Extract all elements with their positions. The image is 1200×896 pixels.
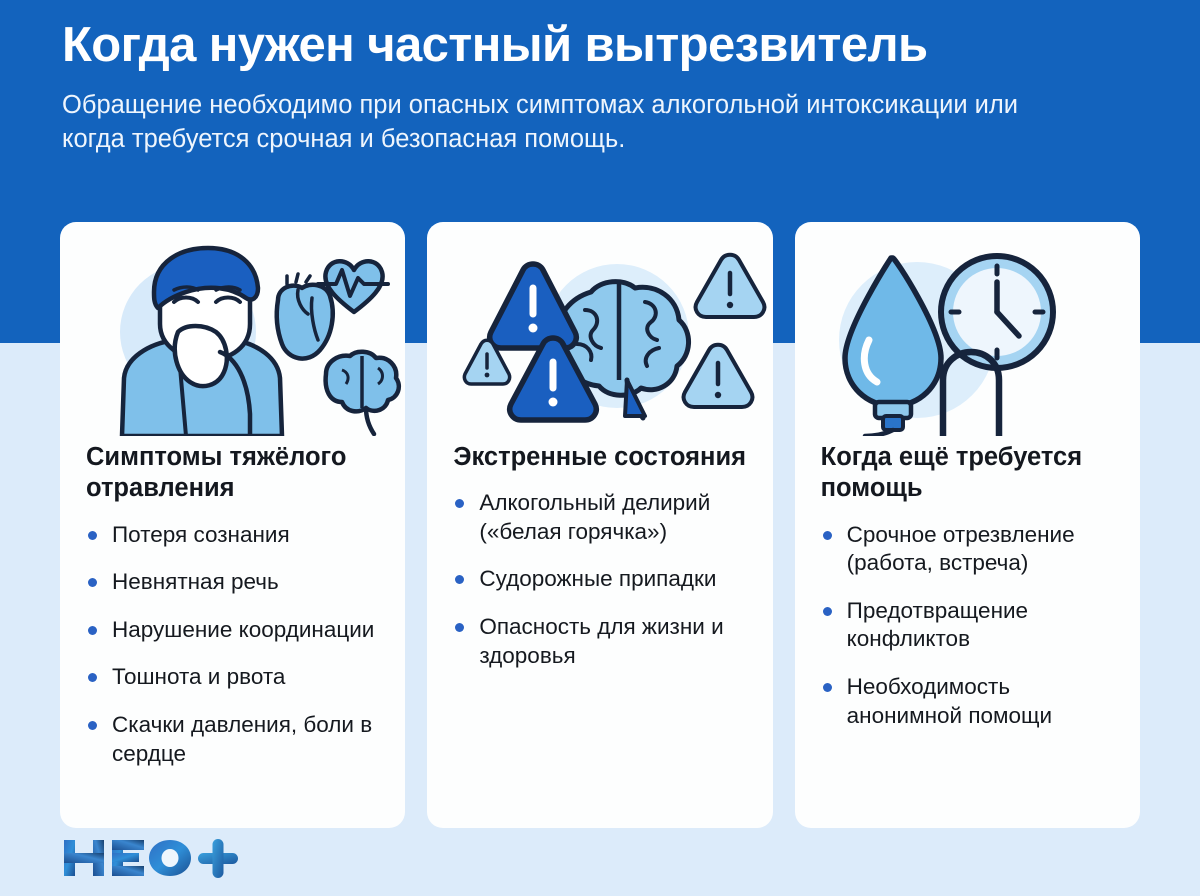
heart-anatomy-icon [277,274,333,359]
logo-plus [198,839,238,878]
list-item: Опасность для жизни и здоровья [453,613,750,670]
brain-warning-illustration [453,240,750,436]
neo-plus-logo: НЕО+ [62,836,242,880]
list-item: Невнятная речь [86,568,383,597]
warning-triangle-icon [684,345,753,407]
list-item: Предотвращение конфликтов [821,597,1118,654]
iv-drip-clock-illustration [821,240,1118,436]
card-emergency-states: Экстренные состояния Алкогольный делирий… [427,222,772,828]
page-subtitle: Обращение необходимо при опасных симптом… [62,89,1072,157]
list-item: Срочное отрезвление (работа, встреча) [821,521,1118,578]
page-title: Когда нужен частный вытрезвитель [62,18,1152,73]
card-title: Когда ещё требуется помощь [821,442,1118,505]
list-item: Нарушение координации [86,616,383,645]
card-title: Симптомы тяжёлого отравления [86,442,383,505]
list-item: Алкогольный делирий («белая горячка») [453,489,750,546]
card-bullet-list: Срочное отрезвление (работа, встреча) Пр… [821,521,1118,730]
sick-man-heart-brain-illustration [86,240,383,436]
brain-icon [326,352,399,434]
logo-letter-o [149,840,191,876]
clock-icon [941,256,1053,368]
card-bullet-list: Алкогольный делирий («белая горячка») Су… [453,489,750,670]
list-item: Скачки давления, боли в сердце [86,711,383,768]
cards-row: Симптомы тяжёлого отравления Потеря созн… [60,222,1140,828]
list-item: Судорожные припадки [453,565,750,594]
warning-triangle-icon [490,264,577,348]
card-title: Экстренные состояния [453,442,750,473]
card-bullet-list: Потеря сознания Невнятная речь Нарушение… [86,521,383,768]
header-text-block: Когда нужен частный вытрезвитель Обращен… [62,18,1152,157]
hand [175,326,227,386]
logo-letter-e [112,840,144,876]
card-severe-poisoning: Симптомы тяжёлого отравления Потеря созн… [60,222,405,828]
card-other-help: Когда ещё требуется помощь Срочное отрез… [795,222,1140,828]
list-item: Необходимость анонимной помощи [821,673,1118,730]
list-item: Тошнота и рвота [86,663,383,692]
logo-letter-n [64,840,104,876]
warning-triangle-icon [696,255,765,317]
list-item: Потеря сознания [86,521,383,550]
